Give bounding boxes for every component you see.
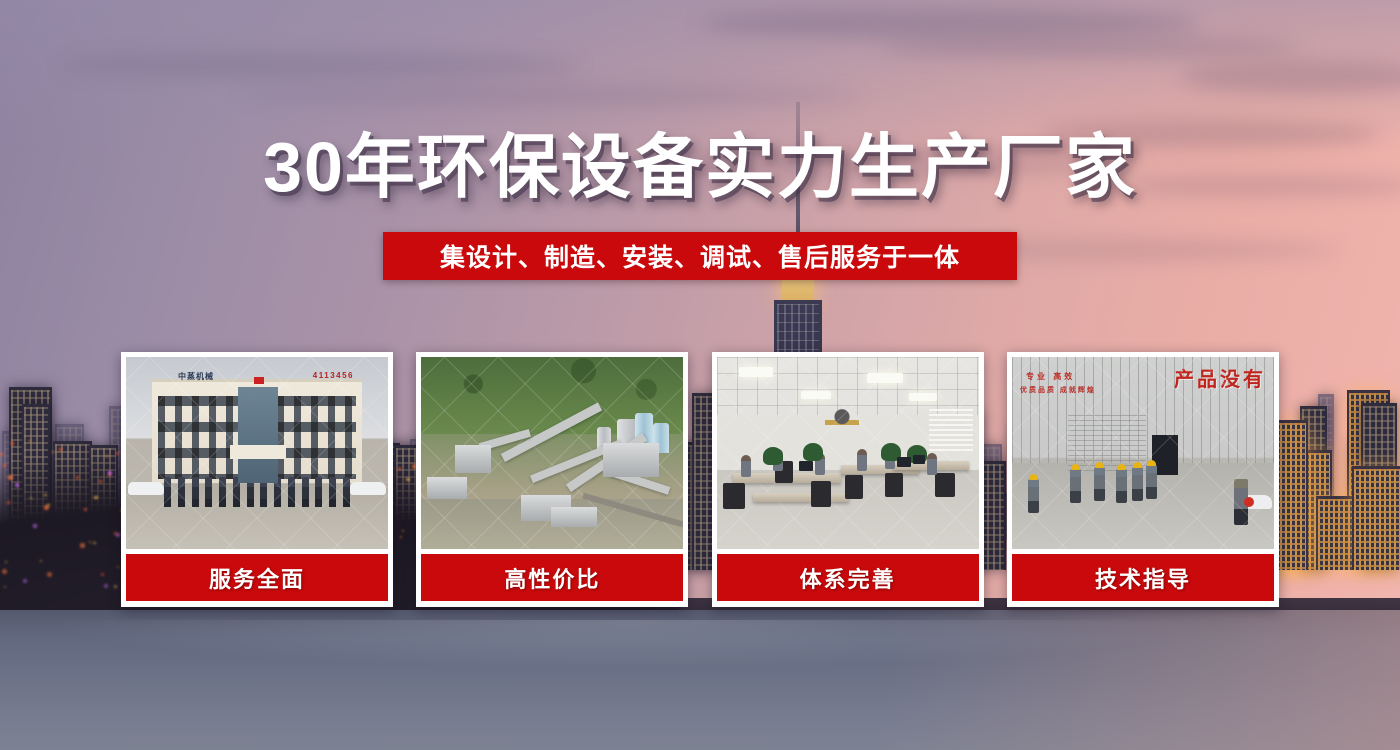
worker-figure (1116, 469, 1127, 503)
city-light (0, 453, 3, 456)
card-caption: 服务全面 (126, 554, 388, 601)
city-light (29, 440, 31, 442)
city-light (11, 442, 14, 445)
card-caption-label: 技术指导 (1095, 562, 1191, 594)
plant-building (551, 507, 597, 527)
city-light (47, 572, 52, 577)
factory-banner-small-text-2: 优质品质 成就辉煌 (1020, 385, 1096, 395)
card-caption-label: 体系完善 (800, 562, 896, 594)
city-light (89, 541, 91, 543)
office-chair (885, 473, 903, 497)
worker-figure (1094, 467, 1105, 501)
city-light (106, 455, 108, 457)
city-light (93, 542, 96, 545)
red-helmet-icon (1244, 497, 1254, 507)
parked-car (350, 482, 386, 495)
city-light (2, 569, 7, 574)
city-light (108, 471, 112, 475)
city-light (101, 573, 104, 576)
worker-figure (1132, 467, 1143, 501)
feature-card[interactable]: 中蒸机械 4113456 服务全面 (121, 352, 393, 607)
ceiling-light-panel (801, 391, 831, 399)
city-light (44, 494, 47, 497)
city-light (84, 508, 87, 511)
hard-hat-icon (1029, 474, 1038, 480)
factory-banner-large-text: 产品没有 (1174, 363, 1266, 392)
phone-number-text: 4113456 (313, 371, 354, 380)
office-worker (741, 455, 751, 477)
city-light (114, 532, 117, 535)
worker-figure (1146, 465, 1157, 499)
city-light (94, 496, 98, 500)
company-sign-text: 中蒸机械 (178, 371, 214, 382)
city-light (80, 543, 85, 548)
city-light (8, 475, 13, 480)
aerial-factory-plant-photo (421, 357, 683, 549)
feature-card[interactable]: 高性价比 (416, 352, 688, 607)
city-light (114, 585, 117, 588)
hard-hat-icon (1147, 460, 1156, 466)
office-worker (857, 449, 867, 471)
wall-logo-icon (825, 405, 859, 431)
city-light (117, 566, 119, 568)
factory-banner-small-text-1: 专业 高效 (1026, 371, 1075, 382)
plant-building (427, 477, 467, 499)
city-light (33, 524, 37, 528)
office-chair (935, 473, 955, 497)
city-light (59, 448, 62, 451)
city-light (30, 497, 32, 499)
computer-monitor (913, 455, 925, 464)
office-desk (753, 493, 849, 502)
parked-car (128, 482, 164, 495)
card-caption: 技术指导 (1012, 554, 1274, 601)
water-warm-reflection (880, 610, 1400, 750)
city-light (104, 584, 108, 588)
feature-card[interactable]: 体系完善 (712, 352, 984, 607)
page-title: 30年环保设备实力生产厂家 (0, 128, 1400, 206)
hard-hat-icon (1095, 462, 1104, 468)
city-light (116, 452, 119, 455)
subtitle-text: 集设计、制造、安装、调试、售后服务于一体 (440, 238, 960, 274)
hard-hat-icon (1117, 464, 1126, 470)
city-light (40, 560, 42, 562)
worker-figure (1070, 469, 1081, 503)
river-water (0, 610, 1400, 750)
office-interior-photo (717, 357, 979, 549)
technical-training-photo: 产品没有 专业 高效 优质品质 成就辉煌 (1012, 357, 1274, 549)
building-pediment (230, 445, 286, 459)
city-light (4, 586, 6, 588)
illuminated-building (1352, 466, 1400, 570)
potted-plant (803, 443, 823, 461)
feature-card-list: 中蒸机械 4113456 服务全面 高性价比 (121, 352, 1279, 607)
card-caption: 体系完善 (717, 554, 979, 601)
hard-hat-icon (1133, 462, 1142, 468)
city-light (3, 464, 6, 467)
plant-building (455, 445, 491, 473)
office-chair (723, 483, 745, 509)
city-light (52, 451, 54, 453)
plant-building (603, 443, 659, 477)
flag-icon (254, 377, 264, 384)
subtitle-banner: 集设计、制造、安装、调试、售后服务于一体 (383, 232, 1017, 280)
city-light (76, 476, 79, 479)
worker-figure (1028, 479, 1039, 513)
card-caption-label: 服务全面 (209, 562, 305, 594)
office-chair (811, 481, 831, 507)
ceiling-light-panel (909, 393, 937, 401)
card-caption-label: 高性价比 (504, 562, 600, 594)
window-blinds (929, 409, 973, 451)
computer-monitor (799, 461, 813, 471)
company-headquarters-photo: 中蒸机械 4113456 (126, 357, 388, 549)
city-light (5, 561, 7, 563)
ceiling-light-panel (739, 367, 773, 377)
hard-hat-icon (1071, 464, 1080, 470)
building-entrance (238, 387, 278, 483)
city-light (15, 483, 19, 487)
hero-banner: 30年环保设备实力生产厂家 集设计、制造、安装、调试、售后服务于一体 中蒸机械 … (0, 0, 1400, 750)
city-light (23, 579, 27, 583)
city-light (7, 501, 10, 504)
ceiling-light-panel (867, 373, 903, 383)
card-caption: 高性价比 (421, 554, 683, 601)
feature-card[interactable]: 产品没有 专业 高效 优质品质 成就辉煌 技术指导 (1007, 352, 1279, 607)
potted-plant (763, 447, 783, 465)
office-chair (845, 475, 863, 499)
office-worker (927, 453, 937, 475)
city-light (99, 480, 102, 483)
city-light (44, 505, 49, 510)
computer-monitor (897, 457, 911, 467)
